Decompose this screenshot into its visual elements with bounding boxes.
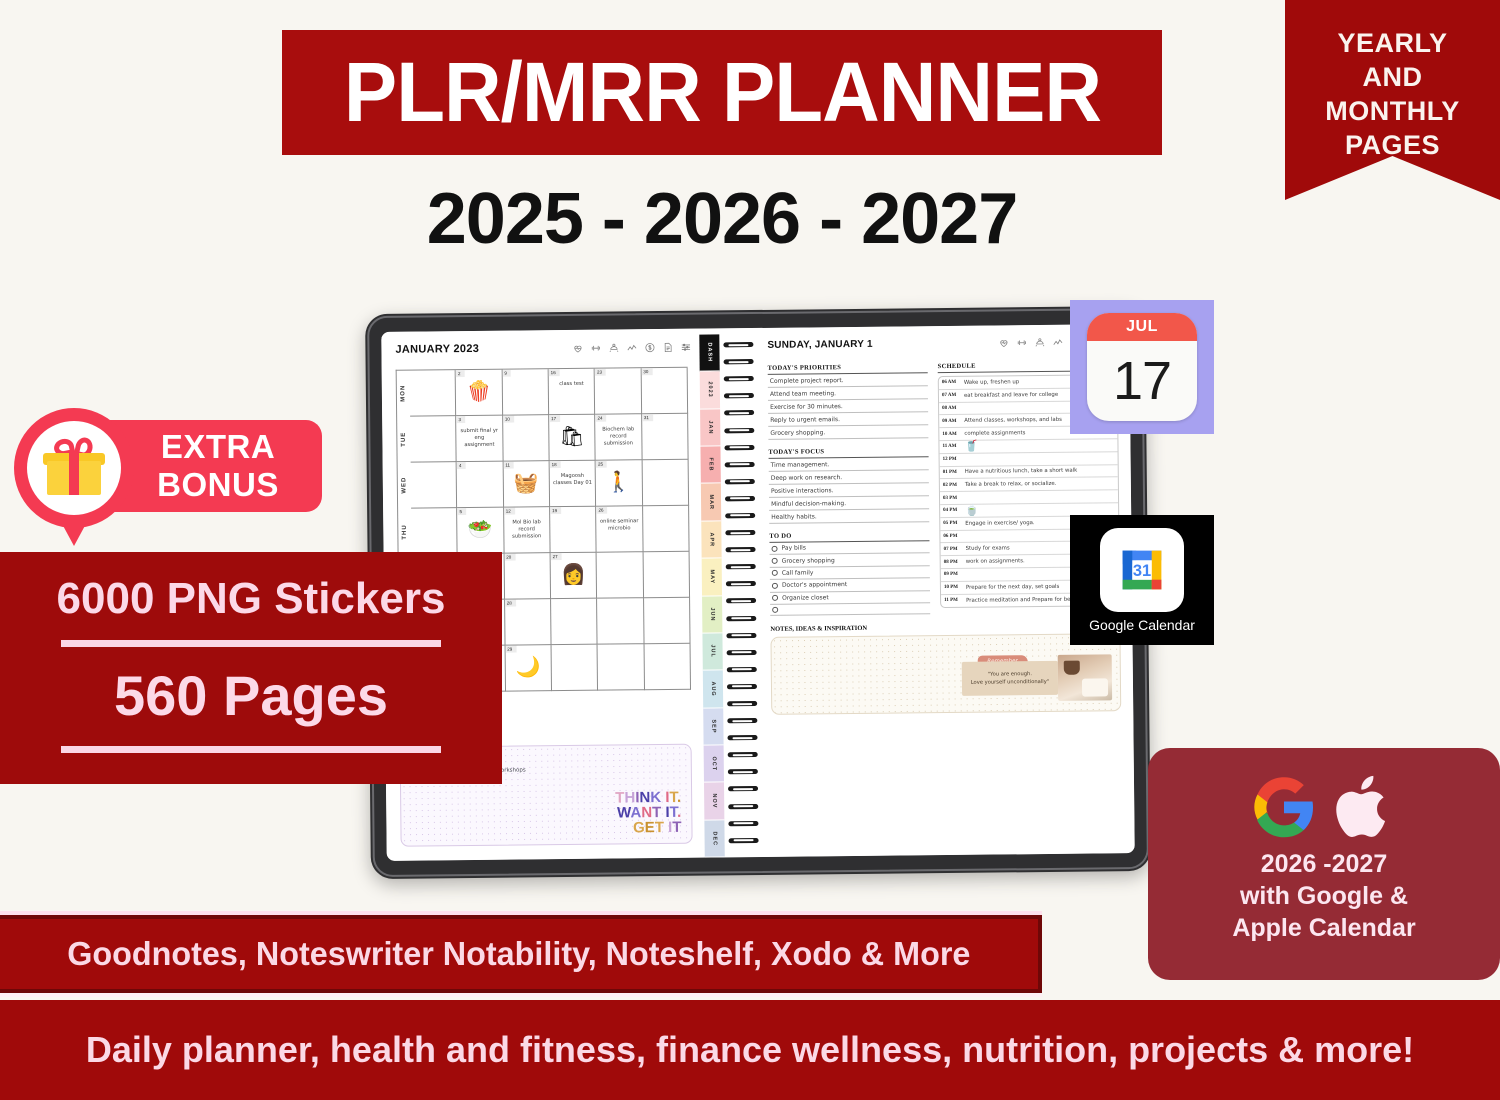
notes-heading: NOTES, IDEAS & INSPIRATION <box>770 622 1120 633</box>
calendar-day-number: 10 <box>503 416 514 423</box>
monthly-page-header: JANUARY 2023 <box>395 341 691 356</box>
calendar-day-cell[interactable]: 18Magoosh classes Day 01 <box>550 461 597 507</box>
schedule-entry: Have a nutritious lunch, take a short wa… <box>965 468 1078 475</box>
calendar-day-cell[interactable]: 25🚶 <box>596 460 643 506</box>
google-calendar-day: 31 <box>1133 561 1151 579</box>
calendar-day-cell[interactable] <box>642 460 689 506</box>
calendar-day-note: Magoosh classes Day 01 <box>552 473 593 487</box>
spiral-ring <box>724 359 754 364</box>
schedule-entry: Study for exams <box>966 546 1010 552</box>
calendar-day-number: 29 <box>505 646 516 653</box>
dumbbell-icon[interactable] <box>590 342 601 353</box>
calendar-day-cell[interactable] <box>551 599 598 645</box>
quote-line-2: Love yourself unconditionally" <box>971 678 1050 687</box>
schedule-time: 09 PM <box>944 572 966 577</box>
bonus-line-1: EXTRA <box>161 428 275 466</box>
features-banner: Daily planner, health and fitness, finan… <box>0 1000 1500 1100</box>
spiral-ring <box>728 752 758 757</box>
calendar-week-row: 411🧺18Magoosh classes Day 0125🚶 <box>411 460 689 509</box>
calendar-day-cell[interactable]: 27👩 <box>551 553 598 599</box>
google-calendar-glyph: 31 <box>1111 539 1173 601</box>
sticker-count-text: 6000 PNG Stickers <box>0 574 502 624</box>
ga-line-2: with Google & <box>1240 880 1408 912</box>
bonus-line-2: BONUS <box>157 466 279 504</box>
calendar-day-cell[interactable] <box>411 462 458 508</box>
spiral-ring <box>724 428 754 433</box>
calendar-day-number: 20 <box>504 554 515 561</box>
calendar-day-cell[interactable] <box>411 508 458 554</box>
gift-icon <box>43 439 105 497</box>
calendar-day-cell[interactable]: 17🛍 <box>549 415 596 461</box>
month-tab-jan[interactable]: JAN <box>700 409 720 447</box>
spiral-ring <box>728 786 758 791</box>
calendar-day-number: 26 <box>596 507 607 514</box>
calendar-week-row: 3submit final yr eng assignment1017🛍24Bi… <box>410 414 688 463</box>
google-logo <box>1251 774 1317 840</box>
calendar-day-cell[interactable]: 26online seminar microbio <box>596 506 643 552</box>
spiral-ring <box>726 598 756 603</box>
motto-sticker: THINK IT. WANT IT. GET IT <box>615 790 681 836</box>
calendar-day-cell[interactable]: 2🍿 <box>456 370 503 416</box>
schedule-time: 06 PM <box>943 534 965 539</box>
calendar-day-cell[interactable]: 4 <box>457 462 504 508</box>
calendar-day-number: 17 <box>549 415 560 422</box>
features-text: Daily planner, health and fitness, finan… <box>86 1029 1414 1071</box>
daily-left-column: TODAY'S PRIORITIES Complete project repo… <box>768 363 931 616</box>
month-tab-oct[interactable]: OCT <box>704 745 724 783</box>
inspiration-photo <box>1058 655 1112 702</box>
calendar-day-cell[interactable] <box>598 644 645 690</box>
google-calendar-label: Google Calendar <box>1089 617 1195 633</box>
calendar-day-cell[interactable]: 12Mol Bio lab record submission <box>504 507 551 553</box>
dollar-icon[interactable] <box>644 342 655 353</box>
calendar-day-number: 30 <box>641 368 652 375</box>
day-title: SUNDAY, JANUARY 1 <box>767 339 872 351</box>
spiral-ring <box>726 564 756 569</box>
todo-label: Pay bills <box>782 545 806 552</box>
spiral-ring <box>726 547 756 552</box>
apple-logo <box>1335 772 1397 842</box>
heart-rate-icon[interactable] <box>572 342 583 353</box>
schedule-entry: Engage in exercise/ yoga. <box>965 520 1034 527</box>
calendar-day-number: 23 <box>595 369 606 376</box>
checkbox-circle-icon[interactable] <box>772 558 778 564</box>
calendar-day-cell[interactable] <box>410 370 457 416</box>
extra-bonus-badge: EXTRA BONUS <box>14 408 319 558</box>
monthly-icon-toolbar[interactable] <box>572 341 691 353</box>
focus-list[interactable]: Time management.Deep work on research.Po… <box>769 457 930 524</box>
ribbon-line-4: PAGES <box>1285 128 1500 162</box>
checkbox-circle-icon[interactable] <box>772 570 778 576</box>
planner-spine[interactable]: DASH2023JANFEBMARAPRMAYJUNJULAUGSEPOCTNO… <box>699 328 763 858</box>
month-tab-nov[interactable]: NOV <box>704 783 724 821</box>
ribbon-line-1: YEARLY <box>1285 26 1500 60</box>
month-tab-2023[interactable]: 2023 <box>700 372 720 410</box>
schedule-time: 11 PM <box>944 598 966 603</box>
weekday-label: TUE <box>397 417 410 463</box>
calendar-day-cell[interactable]: 16class test <box>549 369 596 415</box>
schedule-time: 11 AM <box>942 444 964 449</box>
schedule-time: 03 PM <box>943 495 965 500</box>
calendar-day-cell[interactable]: 11🧺 <box>503 461 550 507</box>
month-tab-apr[interactable]: APR <box>701 521 721 559</box>
checkbox-circle-icon[interactable] <box>772 607 778 613</box>
schedule-time: 12 PM <box>943 457 965 462</box>
calendar-day-note: Biochem lab record submission <box>598 426 640 447</box>
daily-notes-box[interactable]: Remember "You are enough. Love yourself … <box>770 633 1121 715</box>
calendar-day-number: 2 <box>456 370 465 377</box>
page-title-banner: PLR/MRR PLANNER <box>282 30 1162 155</box>
calendar-day-number: 28 <box>505 600 516 607</box>
spiral-ring <box>724 376 754 381</box>
calendar-day-number: 3 <box>456 416 465 423</box>
calendar-day-note: class test <box>551 381 592 388</box>
spiral-ring <box>726 616 756 621</box>
weekday-label: THU <box>398 509 411 555</box>
checkbox-circle-icon[interactable] <box>772 545 778 551</box>
calendar-day-number: 12 <box>504 508 515 515</box>
google-calendar-tile: 31 Google Calendar <box>1070 515 1214 645</box>
dumbbell-icon[interactable] <box>1016 337 1027 348</box>
platform-logos <box>1251 766 1397 848</box>
schedule-time: 08 PM <box>944 559 966 564</box>
spiral-ring <box>727 735 757 740</box>
calendar-day-cell[interactable] <box>644 598 691 644</box>
month-tab-jul[interactable]: JUL <box>702 633 722 671</box>
schedule-time: 09 AM <box>942 419 964 424</box>
schedule-time: 10 PM <box>944 585 966 590</box>
calendar-day-note: submit final yr eng assignment <box>459 428 501 449</box>
spiral-ring <box>728 821 758 826</box>
month-tab-mar[interactable]: MAR <box>701 484 721 522</box>
calendar-day-note: Mol Bio lab record submission <box>506 519 548 540</box>
calendar-day-cell[interactable]: 28 <box>505 599 552 645</box>
calendar-day-cell[interactable]: 24Biochem lab record submission <box>595 414 642 460</box>
spiral-ring <box>728 804 758 809</box>
schedule-time: 08 AM <box>942 406 964 411</box>
google-calendar-icon[interactable]: 31 <box>1100 528 1184 612</box>
calendar-day-cell[interactable] <box>597 552 644 598</box>
calendar-day-cell[interactable]: 5🥗 <box>457 508 504 554</box>
apple-calendar-tile: JUL 17 <box>1070 300 1214 434</box>
schedule-entry: complete assignments <box>964 430 1025 437</box>
schedule-entry: Take a break to relax, or socialize. <box>965 481 1057 488</box>
calendar-day-cell[interactable]: 3submit final yr eng assignment <box>456 416 503 462</box>
google-apple-calendar-panel: 2026 -2027 with Google & Apple Calendar <box>1148 748 1500 980</box>
schedule-time: 07 AM <box>942 393 964 398</box>
calendar-week-row: 5🥗12Mol Bio lab record submission1926onl… <box>411 506 689 555</box>
spiral-ring <box>727 684 757 689</box>
month-tab-aug[interactable]: AUG <box>703 671 723 709</box>
calendar-day-cell[interactable]: 31 <box>642 414 689 460</box>
calendar-week-row: 2🍿916class test2330 <box>410 368 688 417</box>
calendar-day-number: 25 <box>596 461 607 468</box>
calendar-day-cell[interactable]: 23 <box>595 368 642 414</box>
spiral-ring <box>723 342 753 347</box>
schedule-sticker: 🍵 <box>965 504 979 517</box>
schedule-entry: Wake up, freshen up <box>964 379 1019 386</box>
calendar-day-number: 27 <box>551 553 562 560</box>
apple-calendar-month: JUL <box>1087 313 1197 341</box>
spiral-ring <box>725 479 755 484</box>
calendar-day-cell[interactable] <box>643 506 690 552</box>
schedule-time: 04 PM <box>943 508 965 513</box>
weekday-label: MON <box>397 371 410 417</box>
month-tab-dec[interactable]: DEC <box>704 820 724 858</box>
spiral-ring <box>726 581 756 586</box>
schedule-time: 07 PM <box>944 547 966 552</box>
schedule-time: 06 AM <box>942 380 964 385</box>
calendar-day-cell[interactable] <box>552 645 599 691</box>
spiral-ring <box>725 462 755 467</box>
spiral-ring <box>724 445 754 450</box>
spiral-ring <box>724 410 754 415</box>
chart-icon[interactable] <box>1052 337 1063 348</box>
schedule-time: 02 PM <box>943 483 965 488</box>
calendar-day-cell[interactable]: 19 <box>550 507 597 553</box>
stickers-pages-panel: 6000 PNG Stickers 560 Pages <box>0 552 502 784</box>
heart-rate-icon[interactable] <box>998 337 1009 348</box>
spiral-ring <box>727 650 757 655</box>
calendar-day-cell[interactable]: 9 <box>502 369 549 415</box>
document-icon[interactable] <box>662 341 673 352</box>
priorities-list[interactable]: Complete project report.Attend team meet… <box>768 373 929 440</box>
calendar-day-cell[interactable] <box>644 644 691 690</box>
spiral-ring <box>724 393 754 398</box>
calendar-day-number: 19 <box>550 507 561 514</box>
todo-label: Organize closet <box>782 594 829 601</box>
checkbox-circle-icon[interactable] <box>772 595 778 601</box>
apple-calendar-day: 17 <box>1087 341 1197 421</box>
meditation-icon[interactable] <box>1034 337 1045 348</box>
schedule-entry: Prepare for the next day, set goals <box>966 583 1059 590</box>
todo-item[interactable] <box>770 603 930 616</box>
month-title: JANUARY 2023 <box>395 343 479 356</box>
daily-page-header: SUNDAY, JANUARY 1 <box>767 336 1117 351</box>
calendar-day-cell[interactable]: 10 <box>503 415 550 461</box>
calendar-day-number: 18 <box>550 461 561 468</box>
calendar-day-number: 11 <box>503 462 514 469</box>
todo-list[interactable]: Pay billsGrocery shoppingCall familyDoct… <box>769 541 930 616</box>
ribbon-line-3: MONTHLY <box>1285 94 1500 128</box>
schedule-time: 01 PM <box>943 470 965 475</box>
spiral-ring <box>725 513 755 518</box>
schedule-entry: Practice meditation and Prepare for bed <box>966 597 1074 604</box>
spiral-ring <box>728 769 758 774</box>
calendar-day-cell[interactable]: 20 <box>504 553 551 599</box>
calendar-day-cell[interactable] <box>410 416 457 462</box>
calendar-day-number: 24 <box>595 415 606 422</box>
schedule-entry: Attend classes, workshops, and labs <box>964 417 1062 424</box>
yearly-monthly-ribbon: YEARLY AND MONTHLY PAGES <box>1285 0 1500 200</box>
gift-ribbon <box>69 453 79 495</box>
supported-apps-banner: Goodnotes, Noteswriter Notability, Notes… <box>0 915 1042 993</box>
apple-calendar-icon[interactable]: JUL 17 <box>1087 313 1197 421</box>
chart-icon[interactable] <box>626 342 637 353</box>
spiral-ring <box>725 530 755 535</box>
quote-card: "You are enough. Love yourself unconditi… <box>962 661 1058 696</box>
daily-columns: TODAY'S PRIORITIES Complete project repo… <box>768 361 1121 616</box>
pin-inner-circle <box>27 421 121 515</box>
todo-label: Doctor's appointment <box>782 581 847 589</box>
todo-label: Grocery shopping <box>782 557 835 565</box>
meditation-icon[interactable] <box>608 342 619 353</box>
schedule-time: 10 AM <box>942 431 964 436</box>
schedule-entry: work on assignments. <box>966 558 1025 565</box>
schedule-sticker: 🥤 <box>964 440 978 453</box>
month-tab-dash[interactable]: DASH <box>699 334 719 372</box>
month-tab-may[interactable]: MAY <box>702 559 722 597</box>
calendar-day-cell[interactable]: 29🌙 <box>505 645 552 691</box>
weekday-label: WED <box>398 463 411 509</box>
divider-rule-bottom <box>61 746 441 753</box>
spiral-ring <box>727 718 757 723</box>
todo-label: Call family <box>782 569 814 576</box>
checkbox-circle-icon[interactable] <box>772 583 778 589</box>
ga-line-3: Apple Calendar <box>1232 912 1415 944</box>
month-tab-sep[interactable]: SEP <box>703 708 723 746</box>
calendar-day-cell[interactable]: 30 <box>641 368 688 414</box>
calendar-day-cell[interactable] <box>597 598 644 644</box>
calendar-day-number: 4 <box>457 462 466 469</box>
spiral-rings <box>719 328 763 857</box>
month-tab-jun[interactable]: JUN <box>702 596 722 634</box>
spiral-ring <box>726 633 756 638</box>
calendar-day-number: 31 <box>642 414 653 421</box>
spiral-ring <box>727 667 757 672</box>
calendar-day-cell[interactable] <box>643 552 690 598</box>
calendar-day-number: 5 <box>457 508 466 515</box>
calendar-day-note: online seminar microbio <box>599 518 640 532</box>
schedule-time: 05 PM <box>943 521 965 526</box>
spiral-ring <box>725 496 755 501</box>
calendar-day-number: 16 <box>549 369 560 376</box>
page-title: PLR/MRR PLANNER <box>343 44 1100 141</box>
spiral-ring <box>727 701 757 706</box>
month-tab-feb[interactable]: FEB <box>700 446 720 484</box>
page-count-text: 560 Pages <box>0 663 502 728</box>
years-subtitle: 2025 - 2026 - 2027 <box>282 178 1162 260</box>
spiral-ring <box>729 838 759 843</box>
divider-rule-top <box>61 640 441 647</box>
ribbon-line-2: AND <box>1285 60 1500 94</box>
ga-years: 2026 -2027 <box>1261 848 1388 880</box>
settings-icon[interactable] <box>680 341 691 352</box>
supported-apps-text: Goodnotes, Noteswriter Notability, Notes… <box>67 935 970 973</box>
schedule-entry: eat breakfast and leave for college <box>964 392 1058 399</box>
calendar-day-number: 9 <box>502 370 511 377</box>
